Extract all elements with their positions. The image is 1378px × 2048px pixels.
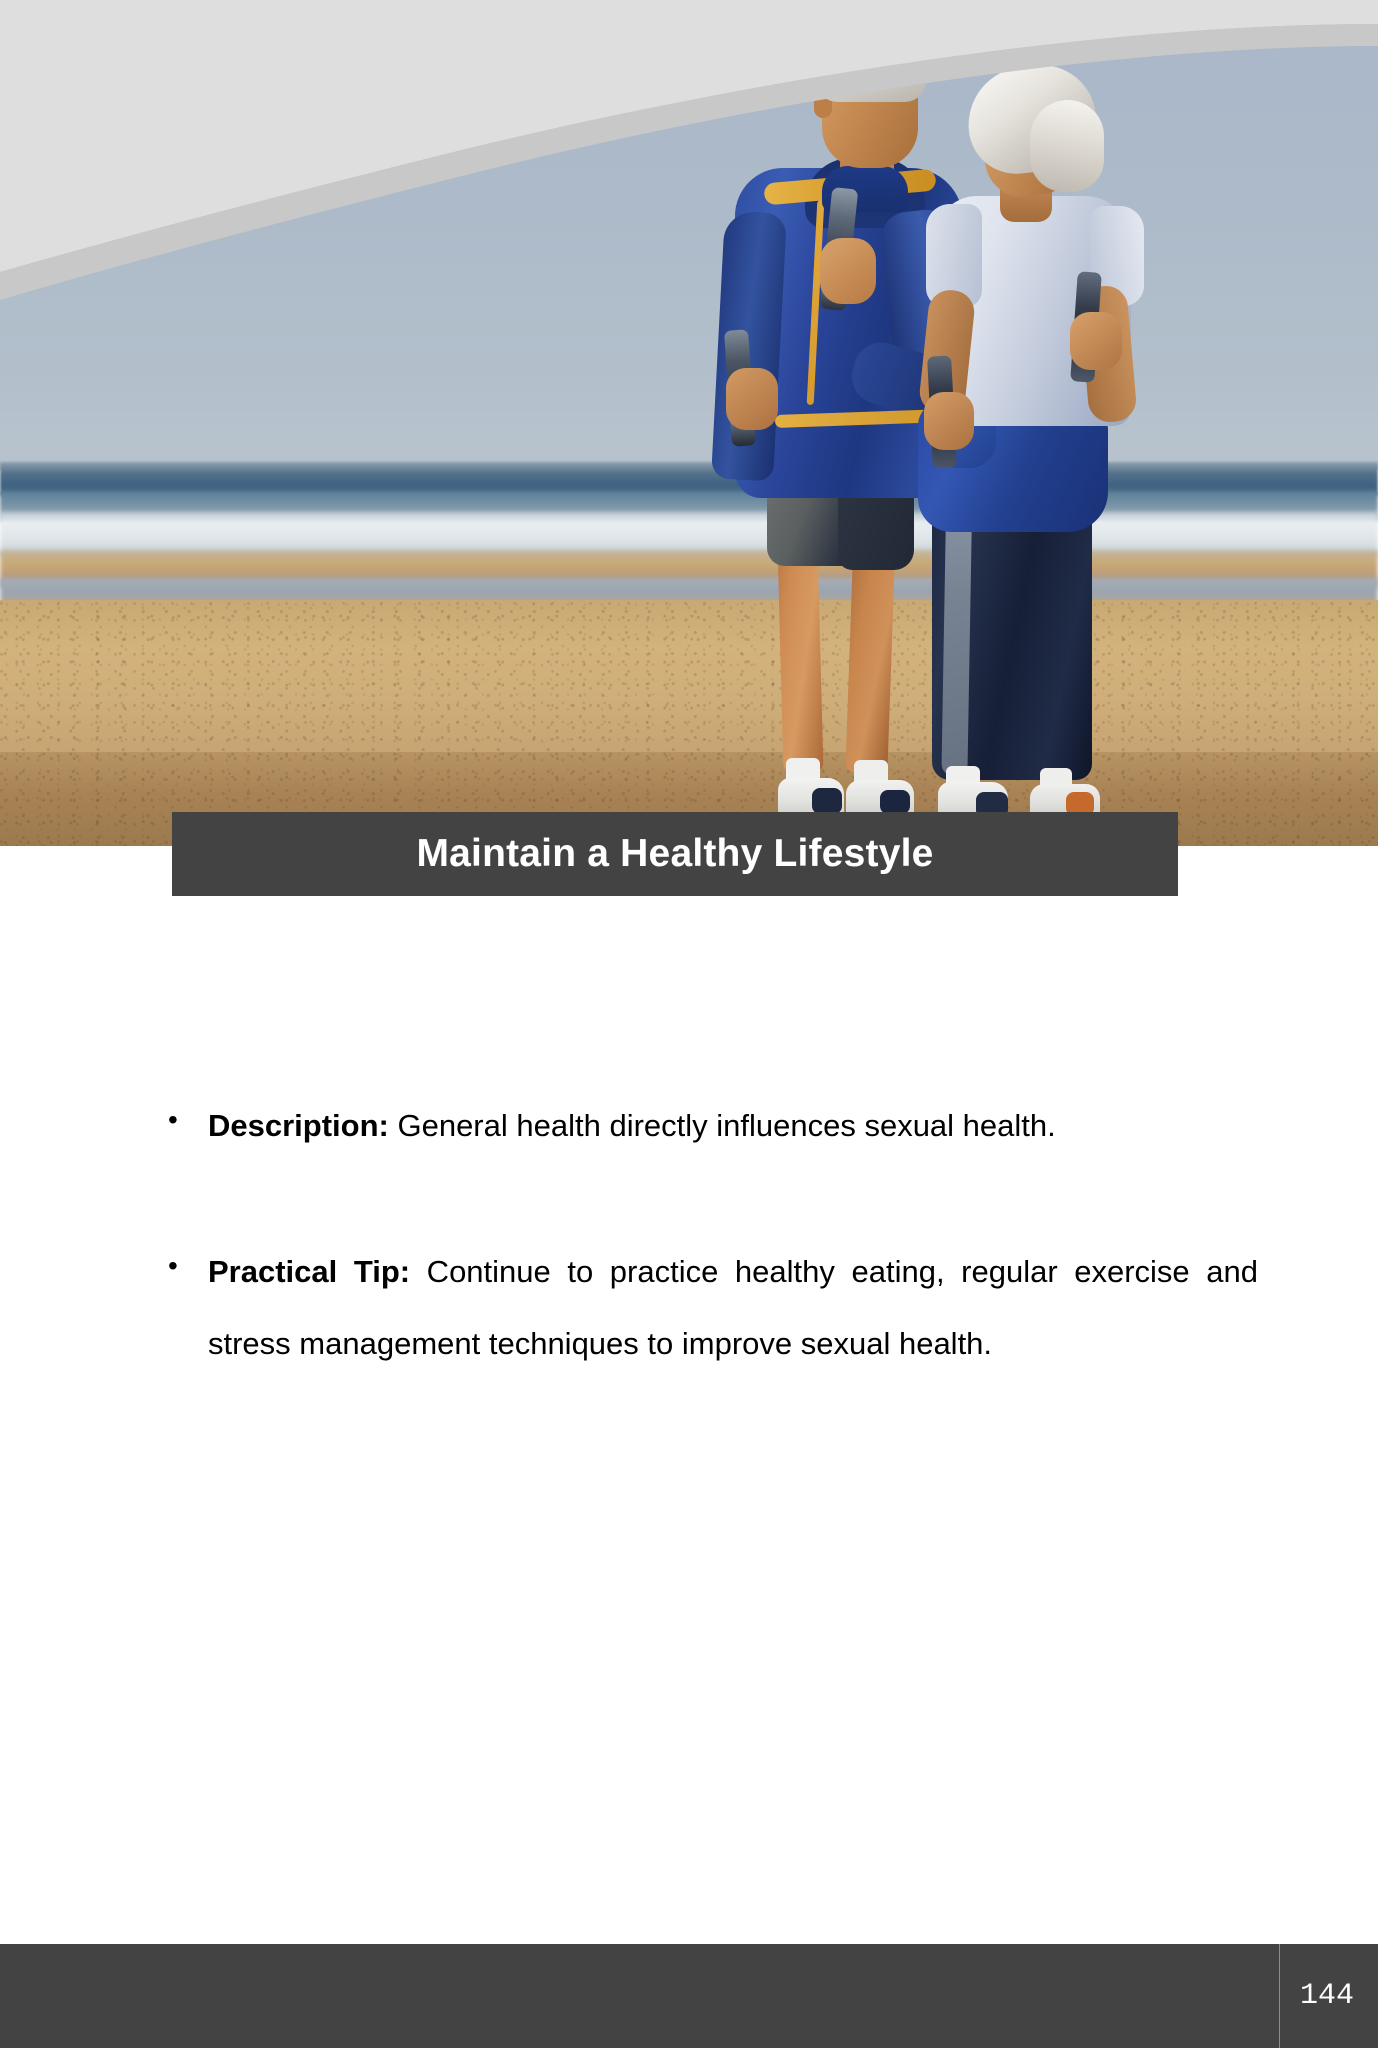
bullet-body-text: General health directly influences sexua… bbox=[389, 1108, 1056, 1143]
decorative-curve-overlay bbox=[0, 0, 1378, 300]
sand-texture bbox=[0, 600, 1378, 846]
man-lower-hand bbox=[726, 368, 778, 430]
hero-photo bbox=[0, 0, 1378, 846]
woman-left-hand bbox=[924, 392, 974, 450]
footer-bar: 144 bbox=[0, 1944, 1378, 2048]
bullet-text-practical-tip: Practical Tip: Continue to practice heal… bbox=[208, 1236, 1258, 1380]
list-item: • Description: General health directly i… bbox=[168, 1090, 1258, 1162]
man-right-shoe-accent bbox=[880, 790, 910, 814]
man-left-shoe-accent bbox=[812, 788, 842, 814]
bullet-marker-icon: • bbox=[168, 1236, 208, 1280]
list-item: • Practical Tip: Continue to practice he… bbox=[168, 1236, 1258, 1380]
title-banner: Maintain a Healthy Lifestyle bbox=[172, 812, 1178, 896]
page-number: 144 bbox=[1288, 1944, 1378, 2048]
woman-right-hand bbox=[1070, 312, 1122, 370]
bullet-lead-label: Description: bbox=[208, 1108, 389, 1143]
ocean-far-layer bbox=[0, 462, 1378, 496]
slide: Maintain a Healthy Lifestyle • Descripti… bbox=[0, 0, 1378, 2048]
bullet-marker-icon: • bbox=[168, 1090, 208, 1134]
bullet-lead-label: Practical Tip: bbox=[208, 1254, 410, 1289]
page-title: Maintain a Healthy Lifestyle bbox=[416, 832, 933, 876]
footer-divider bbox=[1279, 1944, 1280, 2048]
content-area: • Description: General health directly i… bbox=[168, 1090, 1258, 1454]
bullet-text-description: Description: General health directly inf… bbox=[208, 1090, 1258, 1162]
